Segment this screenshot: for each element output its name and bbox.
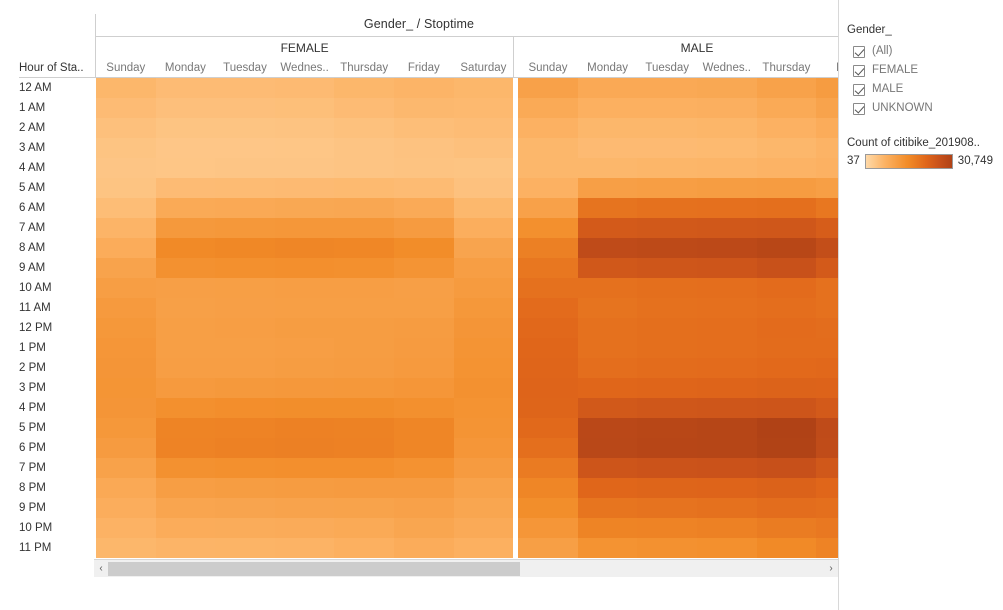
heatmap-cell[interactable] bbox=[454, 458, 514, 478]
heatmap-cell[interactable] bbox=[518, 178, 578, 198]
heatmap-cell[interactable] bbox=[454, 298, 514, 318]
heatmap-cell[interactable] bbox=[156, 418, 216, 438]
heatmap-cell[interactable] bbox=[215, 198, 275, 218]
heatmap-cell[interactable] bbox=[96, 358, 156, 378]
heatmap-cell[interactable] bbox=[518, 538, 578, 558]
heatmap-cell[interactable] bbox=[697, 318, 757, 338]
heatmap-cell[interactable] bbox=[275, 418, 335, 438]
heatmap-cell[interactable] bbox=[275, 158, 335, 178]
heatmap-cell[interactable] bbox=[454, 338, 514, 358]
heatmap-cell[interactable] bbox=[637, 298, 697, 318]
heatmap-cell[interactable] bbox=[757, 258, 817, 278]
heatmap-cell[interactable] bbox=[637, 178, 697, 198]
heatmap-cell[interactable] bbox=[156, 358, 216, 378]
heatmap-cell[interactable] bbox=[518, 198, 578, 218]
checkbox-icon[interactable] bbox=[853, 103, 865, 115]
heatmap-cell[interactable] bbox=[394, 138, 454, 158]
heatmap-cell[interactable] bbox=[697, 198, 757, 218]
heatmap-cell[interactable] bbox=[697, 278, 757, 298]
row-header-hour[interactable]: 3 PM bbox=[19, 378, 91, 398]
heatmap-cell[interactable] bbox=[578, 238, 638, 258]
heatmap-cell[interactable] bbox=[578, 358, 638, 378]
heatmap-cell[interactable] bbox=[394, 458, 454, 478]
column-header-male-5[interactable]: Frid bbox=[816, 60, 838, 78]
heatmap-cell[interactable] bbox=[394, 198, 454, 218]
heatmap-cell[interactable] bbox=[518, 158, 578, 178]
heatmap-cell[interactable] bbox=[637, 278, 697, 298]
heatmap-cell[interactable] bbox=[518, 438, 578, 458]
heatmap-cell[interactable] bbox=[334, 398, 394, 418]
heatmap-cell[interactable] bbox=[96, 198, 156, 218]
heatmap-cell[interactable] bbox=[637, 98, 697, 118]
heatmap-cell[interactable] bbox=[215, 418, 275, 438]
heatmap-cell[interactable] bbox=[394, 438, 454, 458]
column-header-male-3[interactable]: Wednes.. bbox=[697, 60, 757, 78]
heatmap-cell[interactable] bbox=[518, 258, 578, 278]
heatmap-cell[interactable] bbox=[156, 218, 216, 238]
scrollbar-track[interactable] bbox=[108, 562, 824, 576]
heatmap-cell[interactable] bbox=[637, 258, 697, 278]
heatmap-cell[interactable] bbox=[215, 238, 275, 258]
row-header-hour[interactable]: 11 AM bbox=[19, 298, 91, 318]
column-header-male-4[interactable]: Thursday bbox=[757, 60, 817, 78]
heatmap-cell[interactable] bbox=[816, 438, 838, 458]
heatmap-cell[interactable] bbox=[637, 438, 697, 458]
heatmap-cell[interactable] bbox=[96, 458, 156, 478]
heatmap-cell[interactable] bbox=[578, 518, 638, 538]
heatmap-cell[interactable] bbox=[816, 418, 838, 438]
heatmap-cell[interactable] bbox=[394, 218, 454, 238]
heatmap-cell[interactable] bbox=[334, 278, 394, 298]
heatmap-cell[interactable] bbox=[697, 218, 757, 238]
heatmap-cell[interactable] bbox=[156, 158, 216, 178]
heatmap-cell[interactable] bbox=[96, 258, 156, 278]
heatmap-cell[interactable] bbox=[578, 78, 638, 98]
heatmap-cell[interactable] bbox=[454, 98, 514, 118]
heatmap-cell[interactable] bbox=[394, 158, 454, 178]
heatmap-cell[interactable] bbox=[697, 238, 757, 258]
heatmap-cell[interactable] bbox=[454, 318, 514, 338]
filter-item-unknown[interactable]: UNKNOWN bbox=[853, 99, 1003, 118]
heatmap-cell[interactable] bbox=[697, 78, 757, 98]
column-header-male-2[interactable]: Tuesday bbox=[637, 60, 697, 78]
heatmap-cell[interactable] bbox=[215, 78, 275, 98]
heatmap-cell[interactable] bbox=[637, 158, 697, 178]
heatmap-cell[interactable] bbox=[518, 278, 578, 298]
row-header-hour[interactable]: 4 AM bbox=[19, 158, 91, 178]
row-header-hour[interactable]: 9 AM bbox=[19, 258, 91, 278]
heatmap-cell[interactable] bbox=[578, 478, 638, 498]
heatmap-cell[interactable] bbox=[156, 198, 216, 218]
heatmap-cell[interactable] bbox=[757, 218, 817, 238]
row-header-hour[interactable]: 8 PM bbox=[19, 478, 91, 498]
heatmap-cell[interactable] bbox=[334, 318, 394, 338]
column-header-female-3[interactable]: Wednes.. bbox=[275, 60, 335, 78]
heatmap-cell[interactable] bbox=[334, 298, 394, 318]
heatmap-cell[interactable] bbox=[518, 138, 578, 158]
heatmap-cell[interactable] bbox=[454, 78, 514, 98]
heatmap-cell[interactable] bbox=[697, 258, 757, 278]
heatmap-cell[interactable] bbox=[757, 458, 817, 478]
heatmap-cell[interactable] bbox=[697, 458, 757, 478]
heatmap-cell[interactable] bbox=[697, 478, 757, 498]
heatmap-cell[interactable] bbox=[275, 458, 335, 478]
heatmap-cell[interactable] bbox=[394, 538, 454, 558]
heatmap-cell[interactable] bbox=[454, 238, 514, 258]
heatmap-cell[interactable] bbox=[578, 218, 638, 238]
heatmap-cell[interactable] bbox=[578, 198, 638, 218]
heatmap-cell[interactable] bbox=[637, 318, 697, 338]
heatmap-cell[interactable] bbox=[578, 438, 638, 458]
checkbox-icon[interactable] bbox=[853, 46, 865, 58]
row-header-hour[interactable]: 12 AM bbox=[19, 78, 91, 98]
heatmap-cell[interactable] bbox=[816, 478, 838, 498]
heatmap-cell[interactable] bbox=[816, 238, 838, 258]
heatmap-cell[interactable] bbox=[518, 338, 578, 358]
heatmap-cell[interactable] bbox=[275, 138, 335, 158]
row-header-hour[interactable]: 3 AM bbox=[19, 138, 91, 158]
heatmap-cell[interactable] bbox=[275, 358, 335, 378]
heatmap-cell[interactable] bbox=[816, 278, 838, 298]
filter-item-female[interactable]: FEMALE bbox=[853, 61, 1003, 80]
heatmap-cell[interactable] bbox=[275, 78, 335, 98]
row-header-hour[interactable]: 11 PM bbox=[19, 538, 91, 558]
heatmap-cell[interactable] bbox=[334, 238, 394, 258]
heatmap-cell[interactable] bbox=[816, 218, 838, 238]
heatmap-cell[interactable] bbox=[96, 98, 156, 118]
heatmap-cell[interactable] bbox=[156, 498, 216, 518]
column-group-header-female[interactable]: FEMALE bbox=[96, 38, 513, 60]
column-header-female-6[interactable]: Saturday bbox=[454, 60, 514, 78]
heatmap-cell[interactable] bbox=[578, 538, 638, 558]
heatmap-cell[interactable] bbox=[275, 118, 335, 138]
heatmap-cell[interactable] bbox=[96, 338, 156, 358]
heatmap-cell[interactable] bbox=[96, 158, 156, 178]
heatmap-cell[interactable] bbox=[697, 158, 757, 178]
heatmap-cell[interactable] bbox=[454, 398, 514, 418]
heatmap-cell[interactable] bbox=[96, 378, 156, 398]
heatmap-cell[interactable] bbox=[637, 378, 697, 398]
heatmap-cell[interactable] bbox=[816, 178, 838, 198]
heatmap-cell[interactable] bbox=[215, 178, 275, 198]
heatmap-cell[interactable] bbox=[394, 278, 454, 298]
heatmap-cell[interactable] bbox=[275, 98, 335, 118]
heatmap-cell[interactable] bbox=[275, 338, 335, 358]
heatmap-cell[interactable] bbox=[816, 498, 838, 518]
heatmap-cell[interactable] bbox=[757, 118, 817, 138]
heatmap-cell[interactable] bbox=[156, 458, 216, 478]
heatmap-cell[interactable] bbox=[96, 538, 156, 558]
heatmap-cell[interactable] bbox=[156, 518, 216, 538]
heatmap-cell[interactable] bbox=[275, 298, 335, 318]
row-header-hour[interactable]: 2 AM bbox=[19, 118, 91, 138]
filter-item-male[interactable]: MALE bbox=[853, 80, 1003, 99]
heatmap-cell[interactable] bbox=[697, 138, 757, 158]
heatmap-cell[interactable] bbox=[275, 378, 335, 398]
heatmap-cell[interactable] bbox=[275, 218, 335, 238]
heatmap-cell[interactable] bbox=[816, 518, 838, 538]
heatmap-cell[interactable] bbox=[156, 298, 216, 318]
heatmap-cell[interactable] bbox=[156, 318, 216, 338]
heatmap-cell[interactable] bbox=[215, 498, 275, 518]
heatmap-cell[interactable] bbox=[96, 238, 156, 258]
heatmap-cell[interactable] bbox=[215, 478, 275, 498]
heatmap-cell[interactable] bbox=[518, 358, 578, 378]
heatmap-cell[interactable] bbox=[578, 378, 638, 398]
heatmap-cell[interactable] bbox=[697, 538, 757, 558]
heatmap-cell[interactable] bbox=[96, 278, 156, 298]
row-header-hour[interactable]: 2 PM bbox=[19, 358, 91, 378]
heatmap-cell[interactable] bbox=[215, 158, 275, 178]
heatmap-cell[interactable] bbox=[275, 398, 335, 418]
column-header-male-0[interactable]: Sunday bbox=[518, 60, 578, 78]
heatmap-cell[interactable] bbox=[96, 78, 156, 98]
row-header-hour[interactable]: 10 AM bbox=[19, 278, 91, 298]
heatmap-cell[interactable] bbox=[578, 398, 638, 418]
heatmap-cell[interactable] bbox=[637, 518, 697, 538]
heatmap-cell[interactable] bbox=[215, 438, 275, 458]
heatmap-cell[interactable] bbox=[757, 78, 817, 98]
heatmap-cell[interactable] bbox=[334, 218, 394, 238]
heatmap-cell[interactable] bbox=[394, 298, 454, 318]
heatmap-cell[interactable] bbox=[275, 498, 335, 518]
row-header-hour[interactable]: 7 AM bbox=[19, 218, 91, 238]
heatmap-cell[interactable] bbox=[215, 398, 275, 418]
heatmap-cell[interactable] bbox=[578, 338, 638, 358]
heatmap-cell[interactable] bbox=[578, 118, 638, 138]
heatmap-cell[interactable] bbox=[697, 438, 757, 458]
heatmap-cell[interactable] bbox=[697, 498, 757, 518]
heatmap-cell[interactable] bbox=[816, 538, 838, 558]
row-header-hour[interactable]: 12 PM bbox=[19, 318, 91, 338]
heatmap-cell[interactable] bbox=[334, 378, 394, 398]
heatmap-cell[interactable] bbox=[757, 238, 817, 258]
heatmap-cell[interactable] bbox=[156, 138, 216, 158]
heatmap-cell[interactable] bbox=[757, 518, 817, 538]
heatmap-cell[interactable] bbox=[394, 518, 454, 538]
heatmap-cell[interactable] bbox=[578, 278, 638, 298]
row-header-hour[interactable]: 8 AM bbox=[19, 238, 91, 258]
heatmap-cell[interactable] bbox=[334, 538, 394, 558]
heatmap-cell[interactable] bbox=[757, 418, 817, 438]
row-header-hour[interactable]: 5 AM bbox=[19, 178, 91, 198]
heatmap-cell[interactable] bbox=[334, 258, 394, 278]
heatmap-cell[interactable] bbox=[394, 178, 454, 198]
heatmap-cell[interactable] bbox=[518, 78, 578, 98]
heatmap-cell[interactable] bbox=[757, 318, 817, 338]
heatmap-cell[interactable] bbox=[334, 418, 394, 438]
heatmap-cell[interactable] bbox=[757, 278, 817, 298]
heatmap-cell[interactable] bbox=[697, 378, 757, 398]
heatmap-cell[interactable] bbox=[578, 418, 638, 438]
heatmap-cell[interactable] bbox=[454, 138, 514, 158]
heatmap-cell[interactable] bbox=[156, 438, 216, 458]
heatmap-cell[interactable] bbox=[578, 498, 638, 518]
heatmap-cell[interactable] bbox=[334, 78, 394, 98]
row-header-hour[interactable]: 4 PM bbox=[19, 398, 91, 418]
heatmap-cell[interactable] bbox=[757, 198, 817, 218]
heatmap-cell[interactable] bbox=[757, 378, 817, 398]
heatmap-cell[interactable] bbox=[578, 158, 638, 178]
heatmap-cell[interactable] bbox=[816, 338, 838, 358]
heatmap-cell[interactable] bbox=[334, 138, 394, 158]
heatmap-cell[interactable] bbox=[96, 478, 156, 498]
heatmap-cell[interactable] bbox=[275, 478, 335, 498]
row-header-hour[interactable]: 9 PM bbox=[19, 498, 91, 518]
heatmap-cell[interactable] bbox=[578, 178, 638, 198]
heatmap-cell[interactable] bbox=[637, 498, 697, 518]
heatmap-cell[interactable] bbox=[215, 98, 275, 118]
heatmap-cell[interactable] bbox=[757, 178, 817, 198]
heatmap-cell[interactable] bbox=[454, 438, 514, 458]
heatmap-cell[interactable] bbox=[275, 518, 335, 538]
heatmap-cell[interactable] bbox=[215, 258, 275, 278]
heatmap-cell[interactable] bbox=[156, 118, 216, 138]
heatmap-cell[interactable] bbox=[578, 98, 638, 118]
heatmap-cell[interactable] bbox=[394, 478, 454, 498]
heatmap-cell[interactable] bbox=[96, 298, 156, 318]
heatmap-cell[interactable] bbox=[215, 538, 275, 558]
heatmap-cell[interactable] bbox=[96, 318, 156, 338]
heatmap-cell[interactable] bbox=[697, 418, 757, 438]
heatmap-cell[interactable] bbox=[334, 518, 394, 538]
heatmap-cell[interactable] bbox=[518, 98, 578, 118]
heatmap-cell[interactable] bbox=[697, 338, 757, 358]
heatmap-cell[interactable] bbox=[454, 258, 514, 278]
heatmap-cell[interactable] bbox=[215, 458, 275, 478]
heatmap-cell[interactable] bbox=[275, 238, 335, 258]
heatmap-cell[interactable] bbox=[96, 498, 156, 518]
gender-filter-list[interactable]: (All)FEMALEMALEUNKNOWN bbox=[853, 42, 1003, 118]
heatmap-cell[interactable] bbox=[816, 358, 838, 378]
heatmap-cell[interactable] bbox=[454, 278, 514, 298]
heatmap-cell[interactable] bbox=[96, 138, 156, 158]
heatmap-cell[interactable] bbox=[637, 538, 697, 558]
scrollbar-thumb[interactable] bbox=[108, 562, 520, 576]
heatmap-cell[interactable] bbox=[394, 338, 454, 358]
column-group-header-male[interactable]: MALE bbox=[518, 38, 838, 60]
column-header-female-4[interactable]: Thursday bbox=[334, 60, 394, 78]
checkbox-icon[interactable] bbox=[853, 65, 865, 77]
heatmap-cell[interactable] bbox=[334, 178, 394, 198]
heatmap-cell[interactable] bbox=[96, 118, 156, 138]
heatmap-cell[interactable] bbox=[96, 178, 156, 198]
heatmap-cell[interactable] bbox=[697, 298, 757, 318]
heatmap-cell[interactable] bbox=[454, 118, 514, 138]
row-header-hour[interactable]: 10 PM bbox=[19, 518, 91, 538]
heatmap-cell[interactable] bbox=[637, 118, 697, 138]
heatmap-cell[interactable] bbox=[454, 198, 514, 218]
heatmap-cell[interactable] bbox=[637, 78, 697, 98]
heatmap-cell[interactable] bbox=[578, 138, 638, 158]
heatmap-cell[interactable] bbox=[816, 78, 838, 98]
heatmap-cell[interactable] bbox=[334, 478, 394, 498]
heatmap-cell[interactable] bbox=[334, 338, 394, 358]
heatmap-cell[interactable] bbox=[334, 438, 394, 458]
heatmap-cell[interactable] bbox=[394, 118, 454, 138]
heatmap-cell[interactable] bbox=[334, 118, 394, 138]
heatmap-cell[interactable] bbox=[156, 238, 216, 258]
heatmap-cell[interactable] bbox=[215, 518, 275, 538]
heatmap-cell[interactable] bbox=[215, 138, 275, 158]
column-header-female-1[interactable]: Monday bbox=[156, 60, 216, 78]
column-header-male-1[interactable]: Monday bbox=[578, 60, 638, 78]
heatmap-cell[interactable] bbox=[394, 98, 454, 118]
heatmap-cell[interactable] bbox=[96, 218, 156, 238]
heatmap-cell[interactable] bbox=[637, 338, 697, 358]
heatmap-cell[interactable] bbox=[757, 338, 817, 358]
heatmap-cell[interactable] bbox=[816, 198, 838, 218]
heatmap-cell[interactable] bbox=[156, 338, 216, 358]
heatmap-cell[interactable] bbox=[275, 278, 335, 298]
heatmap-cell[interactable] bbox=[454, 178, 514, 198]
heatmap-cell[interactable] bbox=[518, 318, 578, 338]
heatmap-cell[interactable] bbox=[697, 398, 757, 418]
heatmap-cell[interactable] bbox=[816, 458, 838, 478]
heatmap-cell[interactable] bbox=[816, 398, 838, 418]
heatmap-cell[interactable] bbox=[215, 358, 275, 378]
heatmap-cell[interactable] bbox=[215, 338, 275, 358]
heatmap-cell[interactable] bbox=[518, 118, 578, 138]
row-header-hour[interactable]: 5 PM bbox=[19, 418, 91, 438]
heatmap-cell[interactable] bbox=[637, 458, 697, 478]
heatmap-cell[interactable] bbox=[215, 378, 275, 398]
heatmap-cell[interactable] bbox=[816, 318, 838, 338]
heatmap-cell[interactable] bbox=[518, 298, 578, 318]
heatmap-cell[interactable] bbox=[215, 278, 275, 298]
scroll-right-arrow-icon[interactable]: › bbox=[824, 560, 838, 577]
heatmap-cell[interactable] bbox=[394, 398, 454, 418]
heatmap-cell[interactable] bbox=[156, 478, 216, 498]
heatmap-cell[interactable] bbox=[334, 98, 394, 118]
heatmap-cell[interactable] bbox=[275, 178, 335, 198]
heatmap-cell[interactable] bbox=[637, 358, 697, 378]
heatmap-cell[interactable] bbox=[757, 538, 817, 558]
heatmap-cell[interactable] bbox=[637, 138, 697, 158]
heatmap-cell[interactable] bbox=[578, 318, 638, 338]
heatmap-cell[interactable] bbox=[394, 258, 454, 278]
heatmap-cell[interactable] bbox=[697, 98, 757, 118]
heatmap-cell[interactable] bbox=[518, 498, 578, 518]
heatmap-cell[interactable] bbox=[518, 218, 578, 238]
heatmap-cell[interactable] bbox=[757, 98, 817, 118]
heatmap-cell[interactable] bbox=[215, 218, 275, 238]
heatmap-cell[interactable] bbox=[275, 438, 335, 458]
heatmap-cell[interactable] bbox=[156, 258, 216, 278]
horizontal-scrollbar[interactable]: ‹ › bbox=[94, 559, 838, 577]
heatmap-cell[interactable] bbox=[757, 298, 817, 318]
heatmap-cell[interactable] bbox=[518, 458, 578, 478]
heatmap-cell[interactable] bbox=[697, 118, 757, 138]
heatmap-cell[interactable] bbox=[757, 438, 817, 458]
heatmap-cell[interactable] bbox=[518, 418, 578, 438]
heatmap-cell[interactable] bbox=[454, 358, 514, 378]
scroll-left-arrow-icon[interactable]: ‹ bbox=[94, 560, 108, 577]
heatmap-cell[interactable] bbox=[275, 258, 335, 278]
heatmap-cell[interactable] bbox=[816, 378, 838, 398]
heatmap-cell[interactable] bbox=[816, 298, 838, 318]
heatmap-cell[interactable] bbox=[215, 298, 275, 318]
heatmap-cell[interactable] bbox=[275, 318, 335, 338]
heatmap-cell[interactable] bbox=[454, 538, 514, 558]
heatmap-cell[interactable] bbox=[156, 178, 216, 198]
heatmap-cell[interactable] bbox=[96, 438, 156, 458]
heatmap-cell[interactable] bbox=[816, 118, 838, 138]
heatmap-cell[interactable] bbox=[156, 98, 216, 118]
heatmap-cell[interactable] bbox=[394, 238, 454, 258]
heatmap-cell[interactable] bbox=[518, 518, 578, 538]
heatmap-cell[interactable] bbox=[518, 398, 578, 418]
